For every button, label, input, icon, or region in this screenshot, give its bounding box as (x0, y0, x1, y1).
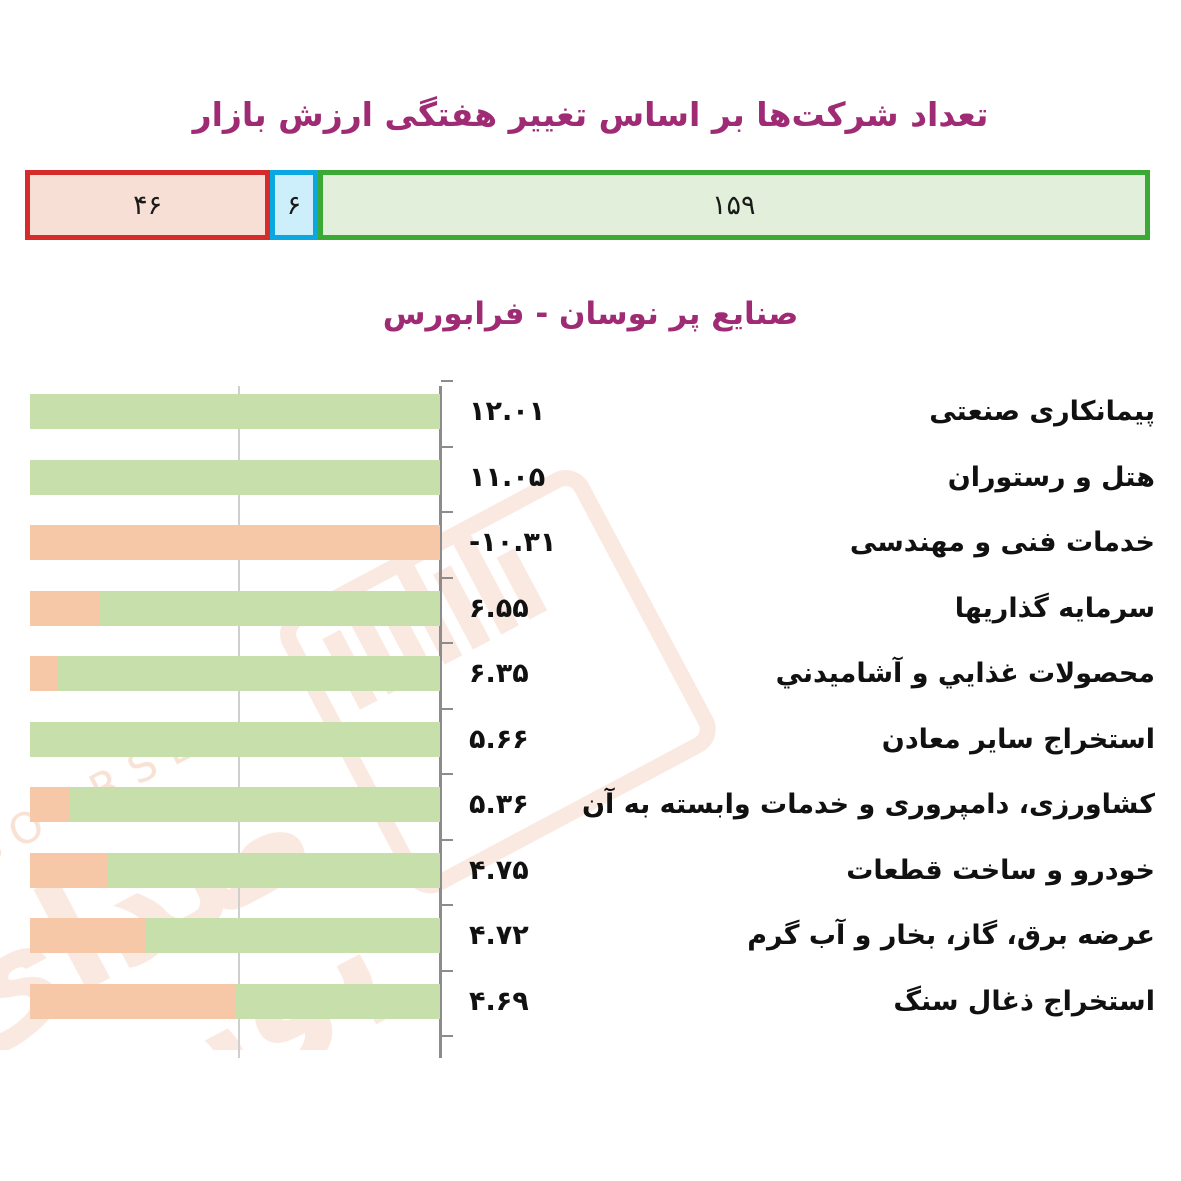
chart-row-labels: پیمانکاری صنعتی۱۲.۰۱هتل و رستوران۱۱.۰۵خد… (455, 386, 1165, 1058)
industry-change-value: ۴.۷۵ (455, 855, 529, 886)
chart-bar (30, 394, 440, 429)
chart-bar (30, 918, 440, 953)
chart-bar-negative-segment (30, 853, 108, 888)
industry-name: محصولات غذایي و آشامیدني (776, 658, 1165, 689)
chart-axis-tick (441, 380, 453, 382)
chart-bar (30, 787, 440, 822)
chart-axis-tick (441, 708, 453, 710)
chart-bar (30, 591, 440, 626)
chart-label-row: پیمانکاری صنعتی۱۲.۰۱ (455, 385, 1165, 438)
summary-segment-losers: ۴۶ (25, 170, 270, 240)
industry-name: سرمایه گذاریها (955, 593, 1165, 624)
chart-label-row: خدمات فنی و مهندسی۱۰.۳۱- (455, 516, 1165, 569)
industry-name: پیمانکاری صنعتی (929, 396, 1165, 427)
industry-name: کشاورزی، دامپروری و خدمات وابسته به آن (582, 789, 1165, 820)
chart-axis-tick (441, 970, 453, 972)
chart-bar-positive-segment (100, 591, 440, 626)
chart-plot-area (30, 386, 440, 1058)
chart-label-row: کشاورزی، دامپروری و خدمات وابسته به آن۵.… (455, 778, 1165, 831)
chart-bar-positive-segment (30, 394, 440, 429)
summary-unchanged-count: ۶ (287, 190, 302, 221)
industry-change-value: ۱۲.۰۱ (455, 396, 545, 427)
chart-bar-negative-segment (30, 525, 440, 560)
industry-change-value: ۶.۵۵ (455, 593, 529, 624)
chart-axis-tick (441, 511, 453, 513)
chart-bar (30, 984, 440, 1019)
summary-segment-unchanged: ۶ (270, 170, 317, 240)
industry-change-value: ۴.۷۲ (455, 920, 529, 951)
chart-bar-negative-segment (30, 787, 69, 822)
chart-axis-tick (441, 904, 453, 906)
chart-axis-tick (441, 642, 453, 644)
chart-bar (30, 853, 440, 888)
chart-label-row: سرمایه گذاریها۶.۵۵ (455, 582, 1165, 635)
industry-change-value: ۴.۶۹ (455, 986, 529, 1017)
chart-bar-positive-segment (69, 787, 440, 822)
summary-segment-gainers: ۱۵۹ (318, 170, 1151, 240)
industry-change-value: ۵.۶۶ (455, 724, 529, 755)
chart-bar-positive-segment (108, 853, 440, 888)
industry-name: استخراج ذغال سنگ (893, 986, 1165, 1017)
summary-gainers-count: ۱۵۹ (712, 190, 756, 221)
industry-name: خودرو و ساخت قطعات (846, 855, 1165, 886)
chart-label-row: خودرو و ساخت قطعات۴.۷۵ (455, 844, 1165, 897)
chart-bar-negative-segment (30, 656, 57, 691)
industry-name: عرضه برق، گاز، بخار و آب گرم (747, 920, 1165, 951)
chart-bar-negative-segment (30, 591, 100, 626)
chart-label-row: هتل و رستوران۱۱.۰۵ (455, 451, 1165, 504)
chart-label-row: استخراج ذغال سنگ۴.۶۹ (455, 975, 1165, 1028)
industry-change-value: ۵.۳۶ (455, 789, 529, 820)
chart-bar-positive-segment (30, 460, 440, 495)
industry-name: خدمات فنی و مهندسی (850, 527, 1165, 558)
industry-change-value: ۶.۳۵ (455, 658, 529, 689)
industry-change-value: ۱۱.۰۵ (455, 462, 545, 493)
chart-bar-negative-segment (30, 918, 145, 953)
chart-title: صنایع پر نوسان - فرابورس (0, 296, 1181, 332)
chart-bar (30, 460, 440, 495)
chart-bar-negative-segment (30, 984, 235, 1019)
chart-bar (30, 722, 440, 757)
industry-name: استخراج سایر معادن (882, 724, 1165, 755)
chart-axis-tick (441, 446, 453, 448)
chart-label-row: استخراج سایر معادن۵.۶۶ (455, 713, 1165, 766)
chart-bar-positive-segment (57, 656, 440, 691)
chart-label-row: عرضه برق، گاز، بخار و آب گرم۴.۷۲ (455, 909, 1165, 962)
industry-name: هتل و رستوران (948, 462, 1165, 493)
chart-bar-positive-segment (30, 722, 440, 757)
industry-change-value: ۱۰.۳۱- (455, 527, 556, 558)
page-title: تعداد شرکت‌ها بر اساس تغییر هفتگی ارزش ب… (0, 95, 1181, 134)
chart-axis-tick (441, 839, 453, 841)
summary-losers-count: ۴۶ (133, 190, 162, 221)
chart-bar-positive-segment (235, 984, 440, 1019)
chart-axis-tick (441, 577, 453, 579)
chart-axis-tick (441, 773, 453, 775)
chart-bar-positive-segment (145, 918, 440, 953)
market-change-summary-bar: ۱۵۹ ۶ ۴۶ (25, 170, 1150, 240)
chart-axis-tick (441, 1035, 453, 1037)
chart-bar (30, 525, 440, 560)
chart-label-row: محصولات غذایي و آشامیدني۶.۳۵ (455, 647, 1165, 700)
chart-bar (30, 656, 440, 691)
